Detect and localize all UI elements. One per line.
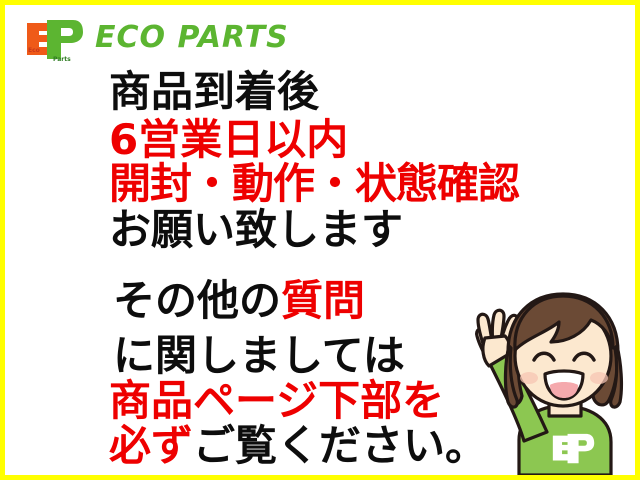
notice-line-1: 商品到着後 [109,71,319,113]
notice-line-3: 開封・動作・状態確認 [109,163,519,205]
notice-line-7: 商品ページ下部を [109,380,444,422]
smiling-woman-waving-illustration [423,290,633,475]
ep-monogram-icon: Eco Parts [23,15,85,63]
notice-line-5-prefix: その他の [113,276,281,325]
notice-line-6: に関しましては [113,335,405,377]
notice-line-5-highlight: 質問 [281,276,365,325]
notice-line-5: その他の質問 [113,280,365,322]
brand-wordmark: ECO PARTS [95,21,289,55]
notice-line-2: 6営業日以内 [109,119,348,161]
eco-parts-notice-banner: Eco Parts ECO PARTS 商品到着後 6営業日以内 開封・動作・状… [0,0,640,480]
svg-text:Parts: Parts [53,56,71,63]
svg-text:Eco: Eco [28,47,40,54]
notice-line-4: お願い致します [109,209,403,251]
notice-line-8-highlight: 必ず [109,421,193,470]
brand-logo: Eco Parts ECO PARTS [17,13,267,65]
